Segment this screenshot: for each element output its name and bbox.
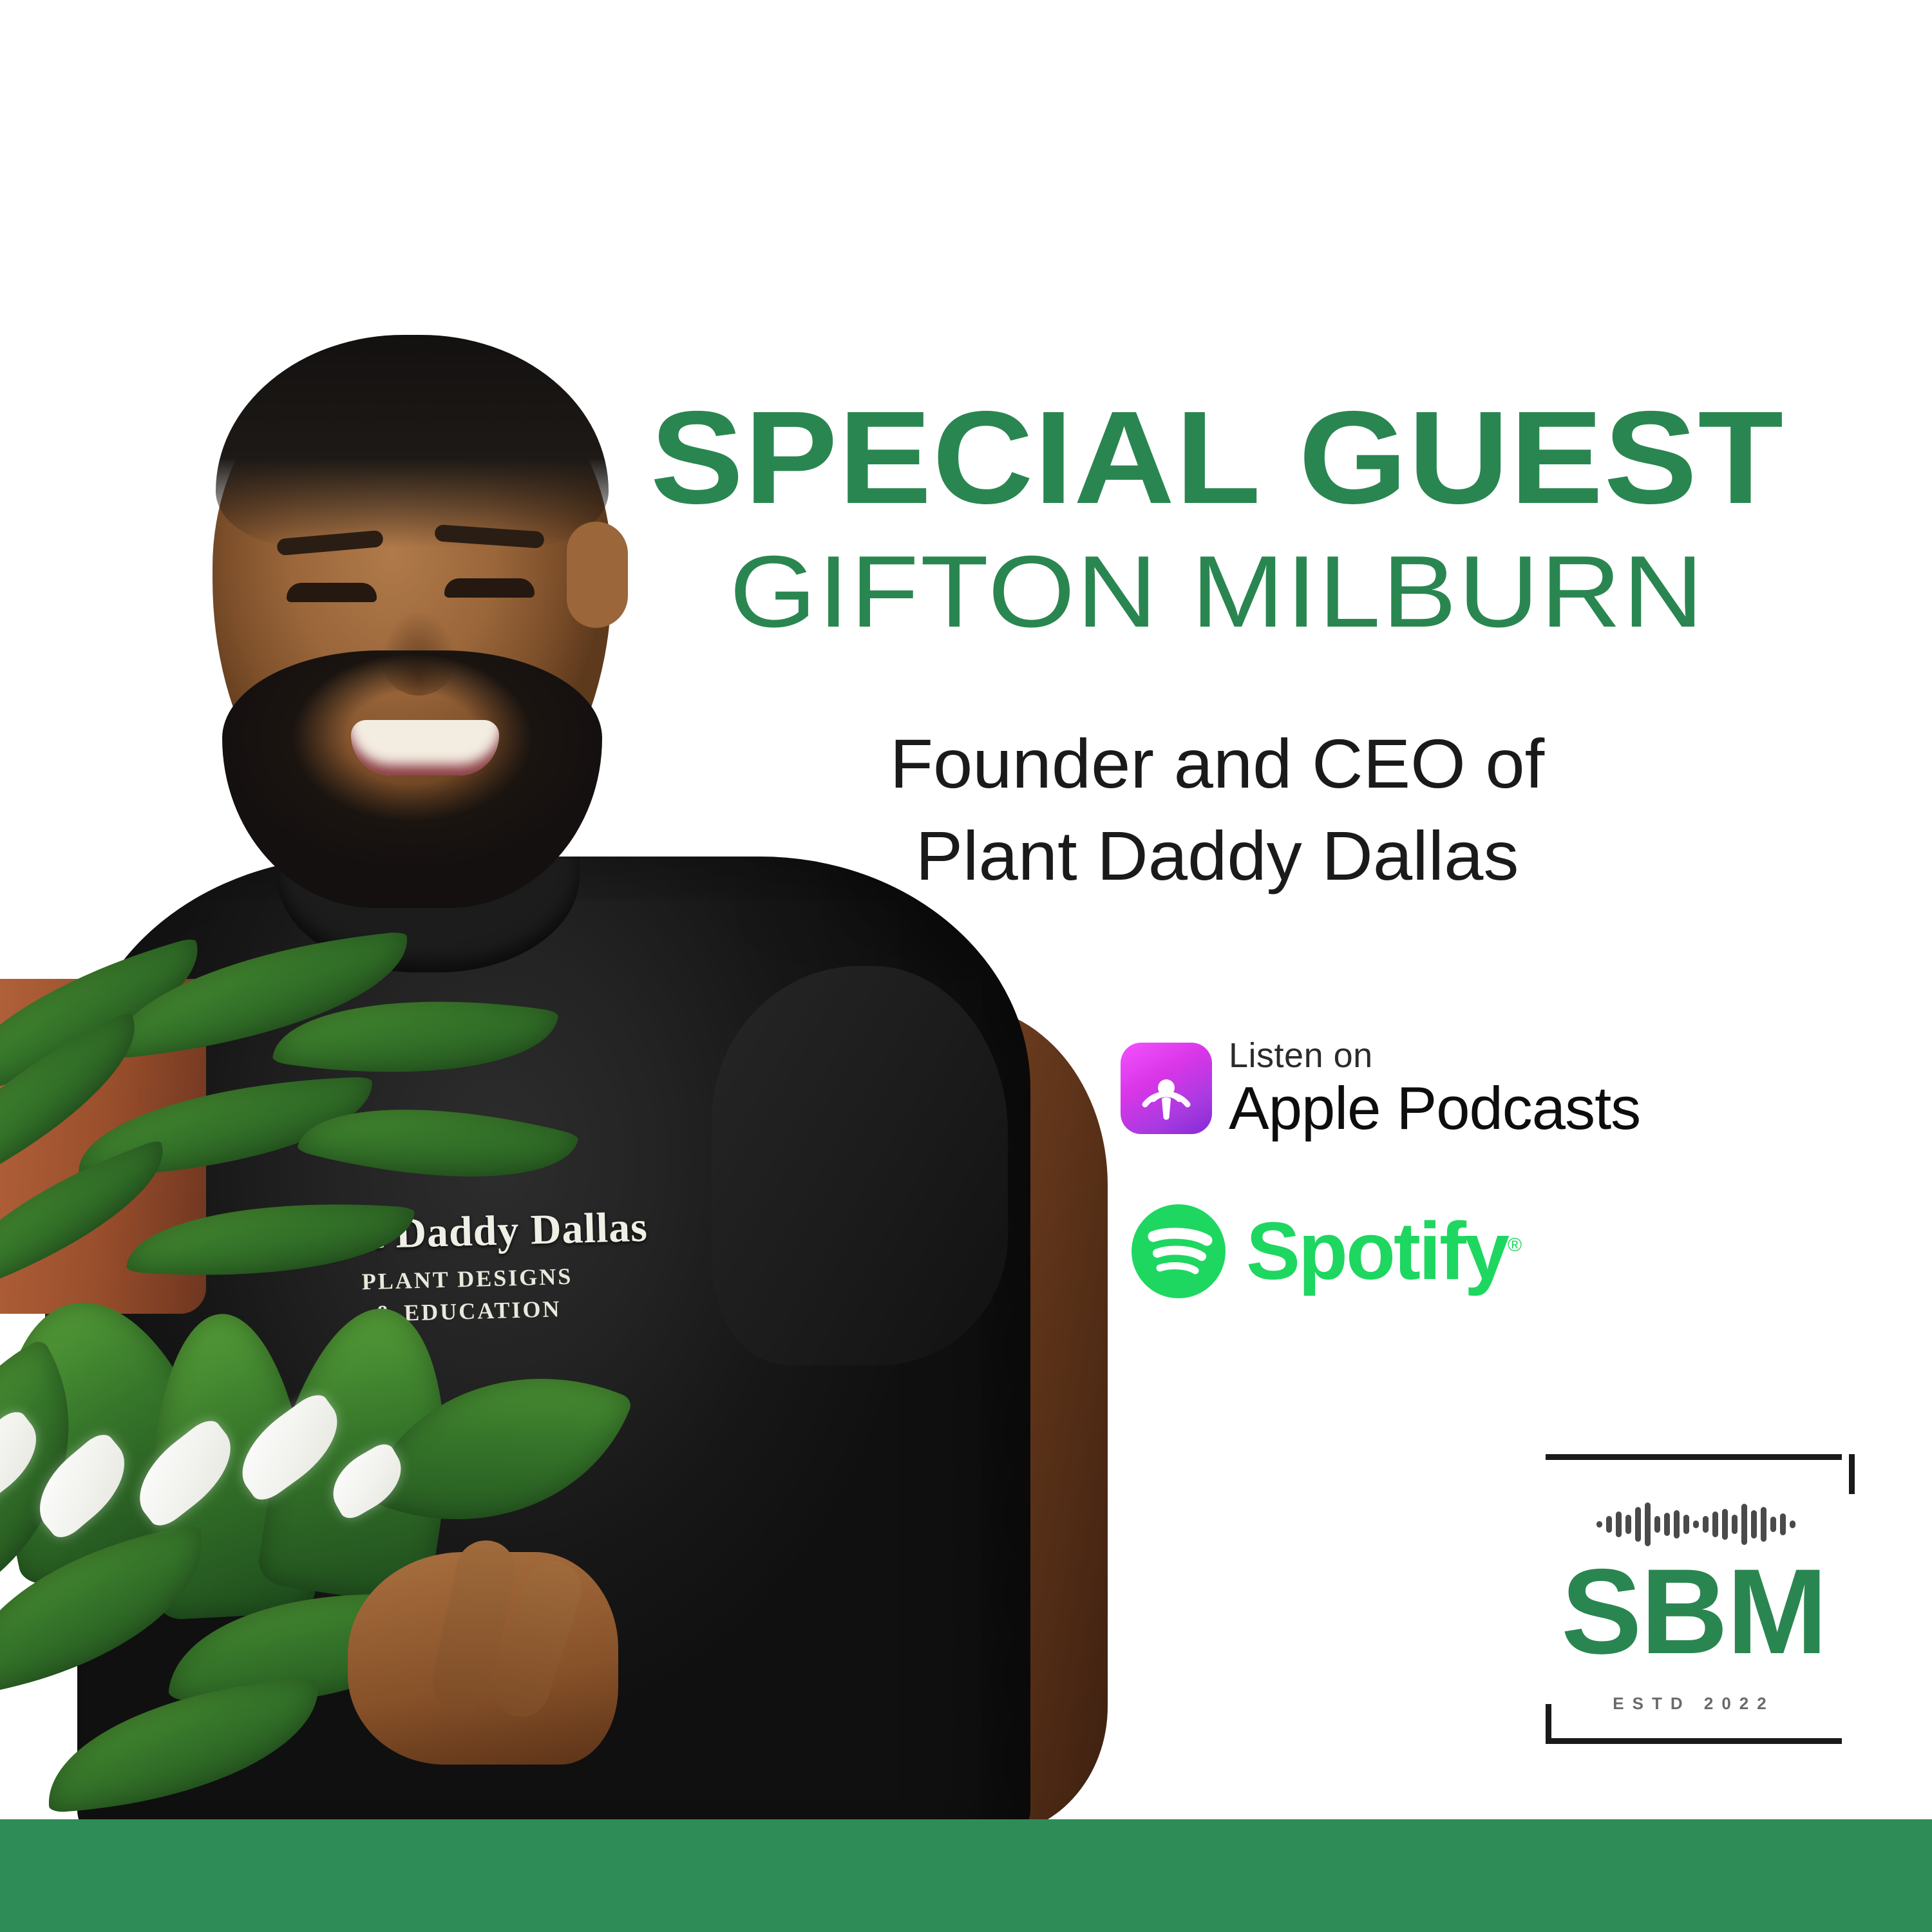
- waveform-bar: [1596, 1521, 1602, 1528]
- apple-listen-on-label: Listen on: [1229, 1038, 1640, 1073]
- subject-eye-left: [287, 583, 377, 602]
- waveform-bar: [1654, 1516, 1660, 1533]
- waveform-bar: [1780, 1513, 1786, 1535]
- logo-frame-bottom-rule: [1546, 1738, 1842, 1744]
- subject-smile: [351, 720, 499, 775]
- logo-frame-top-right-tick: [1849, 1454, 1855, 1494]
- guest-photo: Plant Daddy Dallas PLANT DESIGNS & EDUCA…: [0, 0, 1133, 1823]
- subject-eye-right: [444, 578, 535, 598]
- waveform-bar: [1606, 1516, 1612, 1533]
- logo-frame-top-rule: [1546, 1454, 1842, 1460]
- sbm-wordmark: SBM: [1546, 1551, 1842, 1672]
- spotify-icon: [1130, 1203, 1227, 1300]
- guest-name: GIFTON MILBURN: [580, 541, 1855, 643]
- waveform-bar: [1625, 1515, 1631, 1534]
- waveform-bar: [1616, 1511, 1622, 1537]
- sbm-logo: SBM ESTD 2022: [1546, 1454, 1855, 1744]
- spotify-name-label: Spotify: [1246, 1206, 1508, 1296]
- waveform-bar: [1790, 1520, 1795, 1528]
- subject-right-sleeve: [712, 966, 1008, 1365]
- page-title: SPECIAL GUEST: [603, 392, 1832, 524]
- apple-podcasts-label-group: Listen on Apple Podcasts: [1229, 1038, 1640, 1139]
- subject-hair: [216, 335, 609, 547]
- waveform-bar: [1645, 1502, 1651, 1546]
- waveform-bar: [1693, 1520, 1699, 1528]
- guest-role: Founder and CEO of Plant Daddy Dallas: [632, 718, 1802, 902]
- waveform-bar: [1770, 1517, 1776, 1532]
- waveform-bar: [1751, 1510, 1757, 1539]
- subject-beard: [222, 650, 602, 908]
- waveform-bar: [1635, 1507, 1641, 1542]
- waveform-bar: [1732, 1515, 1738, 1534]
- waveform-bar: [1674, 1510, 1680, 1539]
- guest-role-line-1: Founder and CEO of: [632, 718, 1802, 810]
- waveform-bar: [1683, 1515, 1689, 1534]
- sbm-established-label: ESTD 2022: [1546, 1694, 1842, 1714]
- spotify-trademark: ®: [1508, 1235, 1522, 1256]
- waveform-bar: [1703, 1516, 1709, 1533]
- listen-on-spotify-button[interactable]: Spotify®: [1130, 1203, 1522, 1300]
- waveform-bar: [1712, 1511, 1718, 1537]
- podcast-guest-poster: Plant Daddy Dallas PLANT DESIGNS & EDUCA…: [0, 0, 1932, 1932]
- apple-podcasts-name-label: Apple Podcasts: [1229, 1078, 1640, 1139]
- waveform-bar: [1722, 1509, 1728, 1540]
- guest-role-line-2: Plant Daddy Dallas: [632, 810, 1802, 902]
- listen-on-apple-podcasts-button[interactable]: Listen on Apple Podcasts: [1121, 1038, 1640, 1139]
- footer-accent-bar: [0, 1819, 1932, 1932]
- waveform-bar: [1664, 1513, 1670, 1536]
- waveform-bar: [1741, 1504, 1747, 1545]
- waveform-bar: [1761, 1507, 1766, 1542]
- audio-waveform-icon: [1577, 1501, 1815, 1548]
- spotify-wordmark-group: Spotify®: [1246, 1211, 1522, 1292]
- apple-podcasts-icon: [1121, 1043, 1212, 1134]
